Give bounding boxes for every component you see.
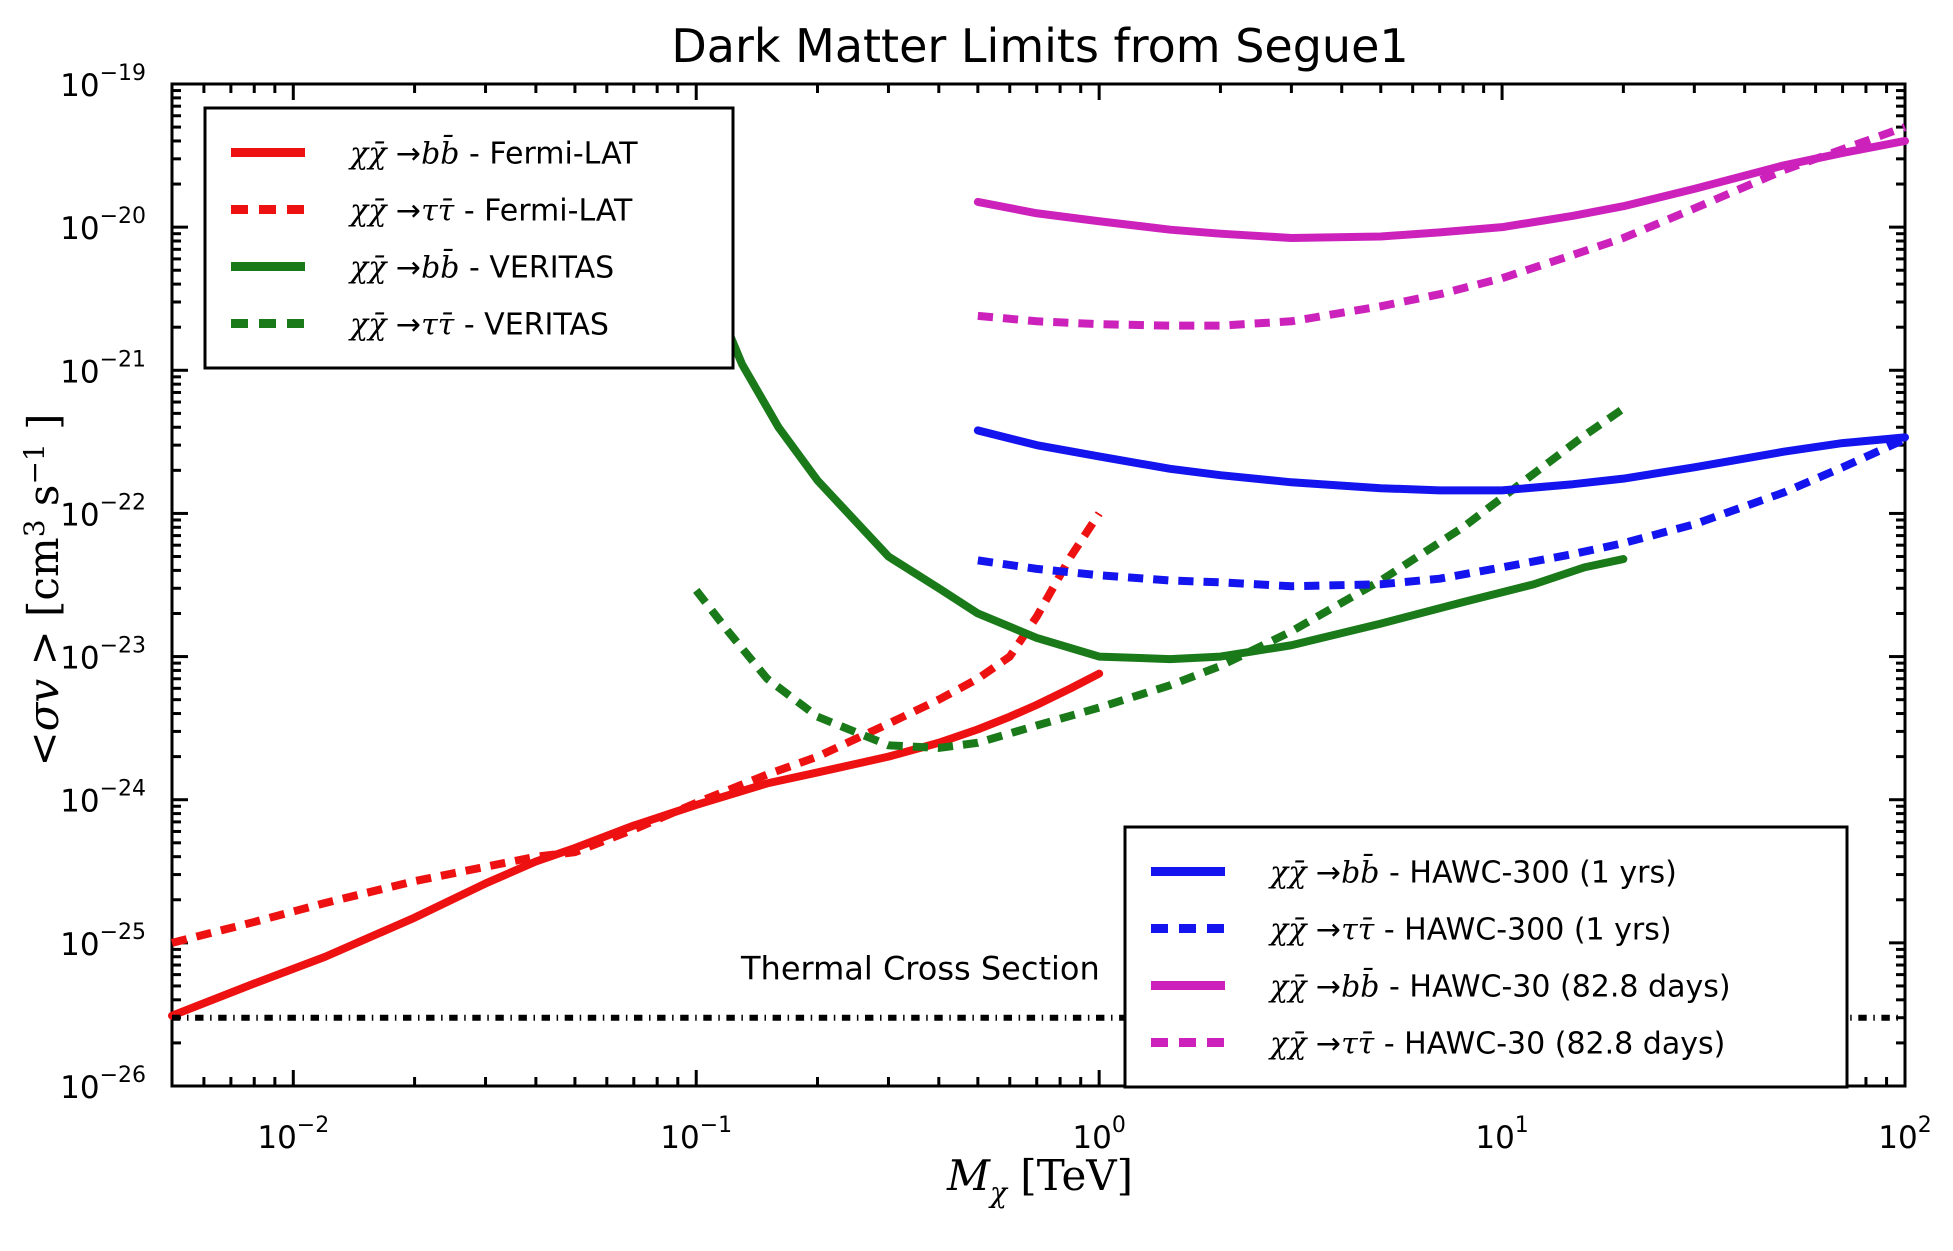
legend-bottom-item-label-0[interactable]: χχ̄ →bb̄ - HAWC-300 (1 yrs) bbox=[1268, 853, 1677, 891]
legend-top-item-label-3[interactable]: χχ̄ →ττ̄ - VERITAS bbox=[348, 308, 609, 343]
dark-matter-limits-chart: Dark Matter Limits from Segue1 10−210−11… bbox=[0, 0, 1953, 1251]
figure-root: Dark Matter Limits from Segue1 10−210−11… bbox=[0, 0, 1953, 1251]
page-title: Dark Matter Limits from Segue1 bbox=[671, 19, 1408, 73]
legend-bottom-item-label-3[interactable]: χχ̄ →ττ̄ - HAWC-30 (82.8 days) bbox=[1268, 1027, 1725, 1062]
legend-top-item-label-0[interactable]: χχ̄ →bb̄ - Fermi-LAT bbox=[348, 134, 638, 172]
legend-top-left[interactable]: χχ̄ →bb̄ - Fermi-LATχχ̄ →ττ̄ - Fermi-LAT… bbox=[205, 108, 733, 368]
thermal-cross-section-label: Thermal Cross Section bbox=[740, 950, 1100, 988]
legend-bottom-item-label-1[interactable]: χχ̄ →ττ̄ - HAWC-300 (1 yrs) bbox=[1268, 913, 1672, 948]
legend-bottom-right[interactable]: χχ̄ →bb̄ - HAWC-300 (1 yrs)χχ̄ →ττ̄ - HA… bbox=[1125, 827, 1847, 1087]
legend-top-item-label-1[interactable]: χχ̄ →ττ̄ - Fermi-LAT bbox=[348, 194, 633, 229]
legend-bottom-item-label-2[interactable]: χχ̄ →bb̄ - HAWC-30 (82.8 days) bbox=[1268, 967, 1731, 1005]
legend-top-item-label-2[interactable]: χχ̄ →bb̄ - VERITAS bbox=[348, 248, 614, 286]
